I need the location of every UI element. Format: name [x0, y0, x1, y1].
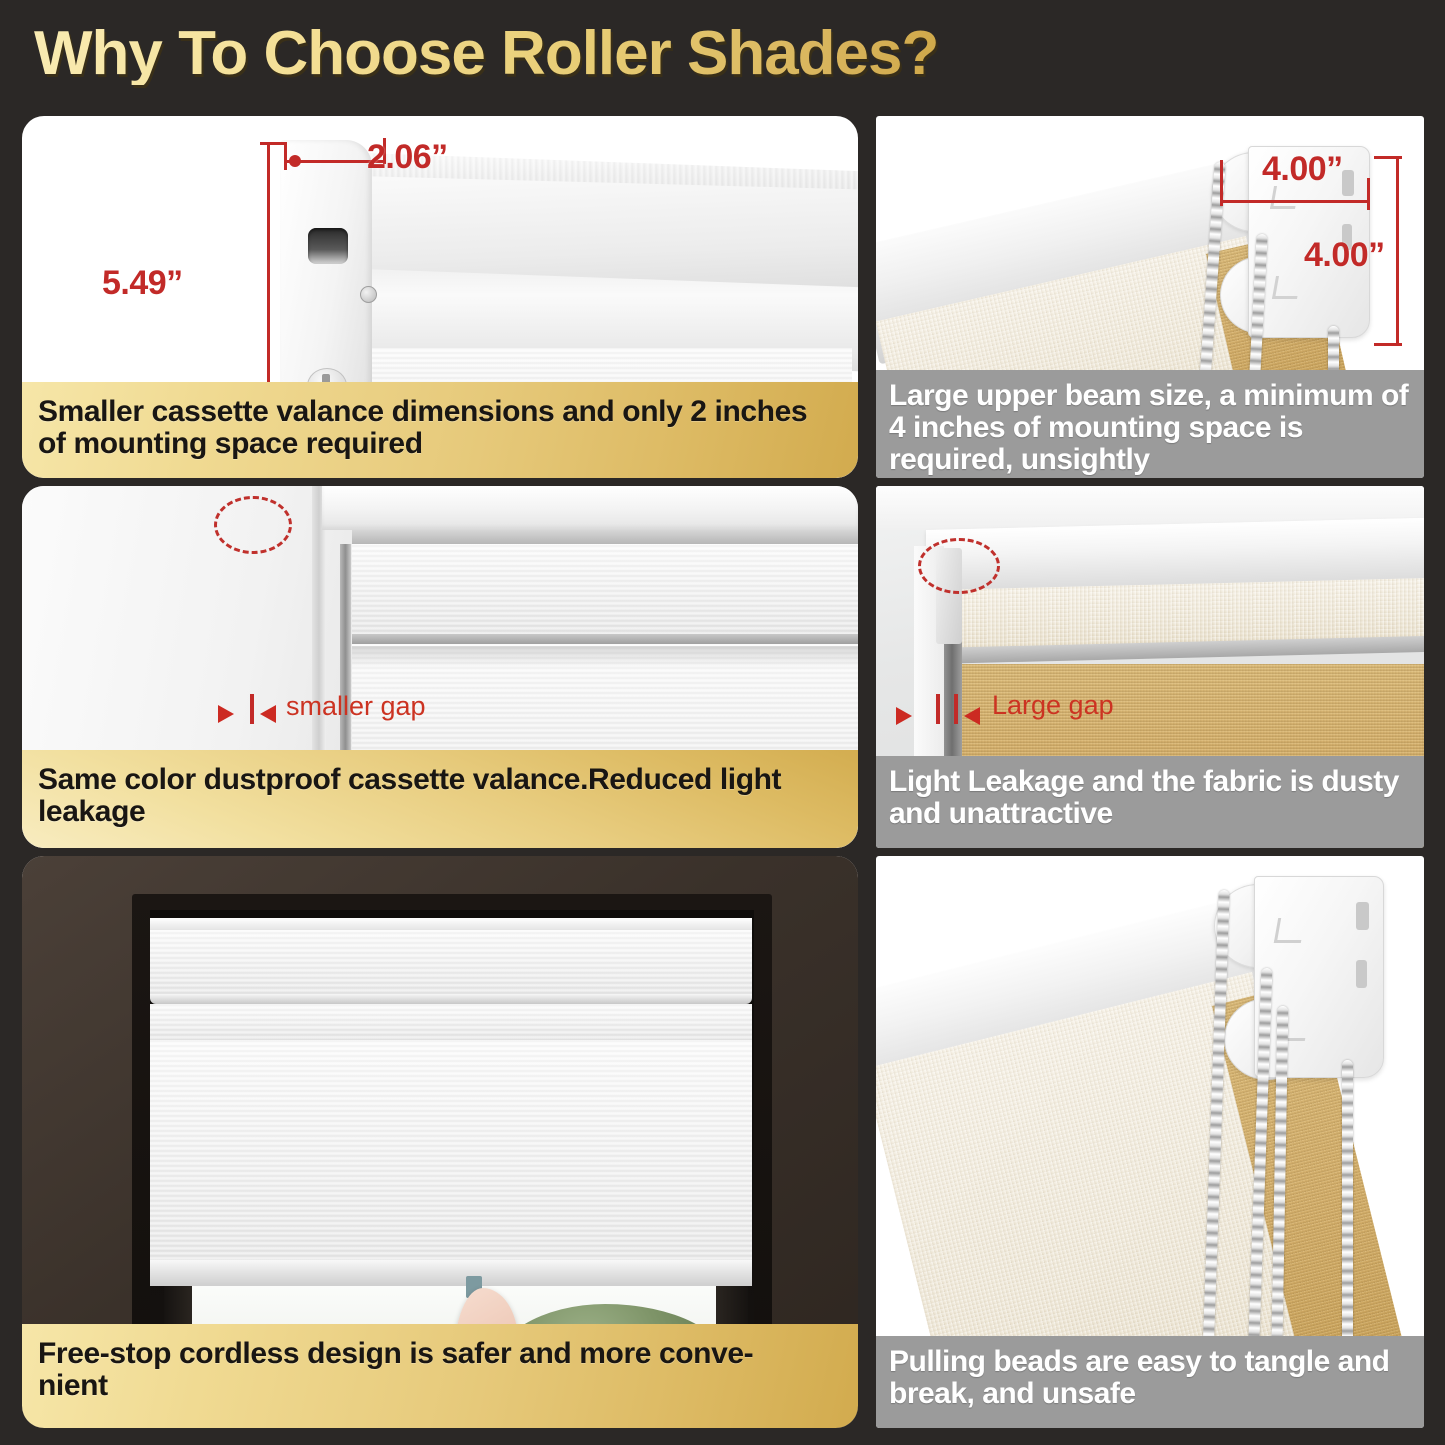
beam-width-tick-right: [1367, 178, 1370, 210]
shade-roll-shadow: [352, 646, 858, 668]
caption-text: Free-stop cordless design is safer and m…: [38, 1338, 842, 1403]
highlight-ellipse: [918, 538, 1000, 594]
panel-caption-large-upper-beam: Large upper beam size, a minimum of 4 in…: [876, 370, 1424, 478]
panel-caption-cordless-design: Free-stop cordless design is safer and m…: [22, 1324, 858, 1428]
caption-text: Light Leakage and the fabric is dusty an…: [889, 766, 1411, 830]
gap-arrow-right: [964, 707, 980, 725]
bracket-logo-upper: [1274, 918, 1305, 943]
caption-text: Large upper beam size, a minimum of 4 in…: [889, 380, 1411, 475]
bracket-logo-upper: [1270, 186, 1299, 209]
panel-caption-light-leakage: Light Leakage and the fabric is dusty an…: [876, 756, 1424, 848]
page-title: Why To Choose Roller Shades?: [34, 23, 938, 85]
bracket-slot-upper: [1342, 170, 1354, 196]
beam-width-dimension-line: [1220, 200, 1370, 203]
valance-lip: [150, 994, 752, 1004]
bracket-slot-upper: [1356, 902, 1369, 930]
panel-large-upper-beam: 4.00” 4.00” Large upper beam size, a min…: [876, 116, 1424, 478]
cassette-valance: [150, 930, 752, 998]
highlight-ellipse: [214, 496, 292, 554]
panel-cassette-valance: 2.06” 5.49” Smaller cassette valance dim…: [22, 116, 858, 478]
valance-lower-band: [150, 1004, 752, 1040]
width-dimension-dot: [289, 155, 301, 167]
width-dimension-tick-left: [284, 142, 287, 170]
gap-arrow-left: [896, 707, 912, 725]
shade-fabric-main: [150, 1040, 752, 1276]
panel-caption-cassette-valance: Smaller cassette valance dimensions and …: [22, 382, 858, 478]
bracket-logo-lower: [1272, 276, 1301, 299]
gap-marker-bar-right: [954, 694, 958, 724]
beam-height-tick-bottom: [1374, 343, 1402, 346]
height-dimension-tick-top: [260, 142, 284, 145]
gap-arrow-left: [218, 705, 234, 723]
gap-arrow-right: [260, 705, 276, 723]
end-cap-screw-upper: [360, 286, 377, 303]
beam-height-tick-top: [1374, 156, 1402, 159]
shade-bottom-rail: [150, 1260, 752, 1286]
caption-text: Smaller cassette valance dimensions and …: [38, 396, 842, 461]
width-dimension-label: 2.06”: [367, 138, 448, 177]
window-casing-top-molding: [322, 486, 858, 530]
caption-text: Pulling beads are easy to tangle and bre…: [889, 1346, 1411, 1410]
panel-light-leakage: Large gap Light Leakage and the fabric i…: [876, 486, 1424, 848]
height-dimension-label: 5.49”: [102, 264, 183, 303]
panel-pulling-beads: Pulling beads are easy to tangle and bre…: [876, 856, 1424, 1428]
end-cap-slot: [308, 228, 348, 264]
cassette-head-rail: [352, 530, 858, 544]
header: Why To Choose Roller Shades?: [0, 0, 1445, 108]
gap-marker-bar: [250, 694, 254, 724]
panel-dustproof-cassette: smaller gap Same color dustproof cassett…: [22, 486, 858, 848]
gap-callout-label: smaller gap: [286, 691, 426, 722]
cassette-valance-lip: [352, 634, 858, 644]
bracket-slot-lower: [1356, 960, 1367, 988]
panel-caption-dustproof-cassette: Same color dustproof cassette valance.Re…: [22, 750, 858, 848]
beam-width-dimension-label: 4.00”: [1262, 150, 1343, 189]
gap-marker-bar-left: [936, 694, 940, 724]
comparison-grid: 2.06” 5.49” Smaller cassette valance dim…: [0, 108, 1445, 1445]
panel-caption-pulling-beads: Pulling beads are easy to tangle and bre…: [876, 1336, 1424, 1428]
cassette-valance-face: [352, 544, 858, 636]
caption-text: Same color dustproof cassette valance.Re…: [38, 764, 842, 829]
beam-width-tick-left: [1220, 160, 1223, 206]
panel-cordless-design: Free-stop cordless design is safer and m…: [22, 856, 858, 1428]
beam-height-dimension-label: 4.00”: [1304, 236, 1385, 275]
gap-callout-label: Large gap: [992, 690, 1114, 721]
beam-height-dimension-line: [1396, 156, 1399, 346]
valance-top-cap: [150, 918, 752, 930]
